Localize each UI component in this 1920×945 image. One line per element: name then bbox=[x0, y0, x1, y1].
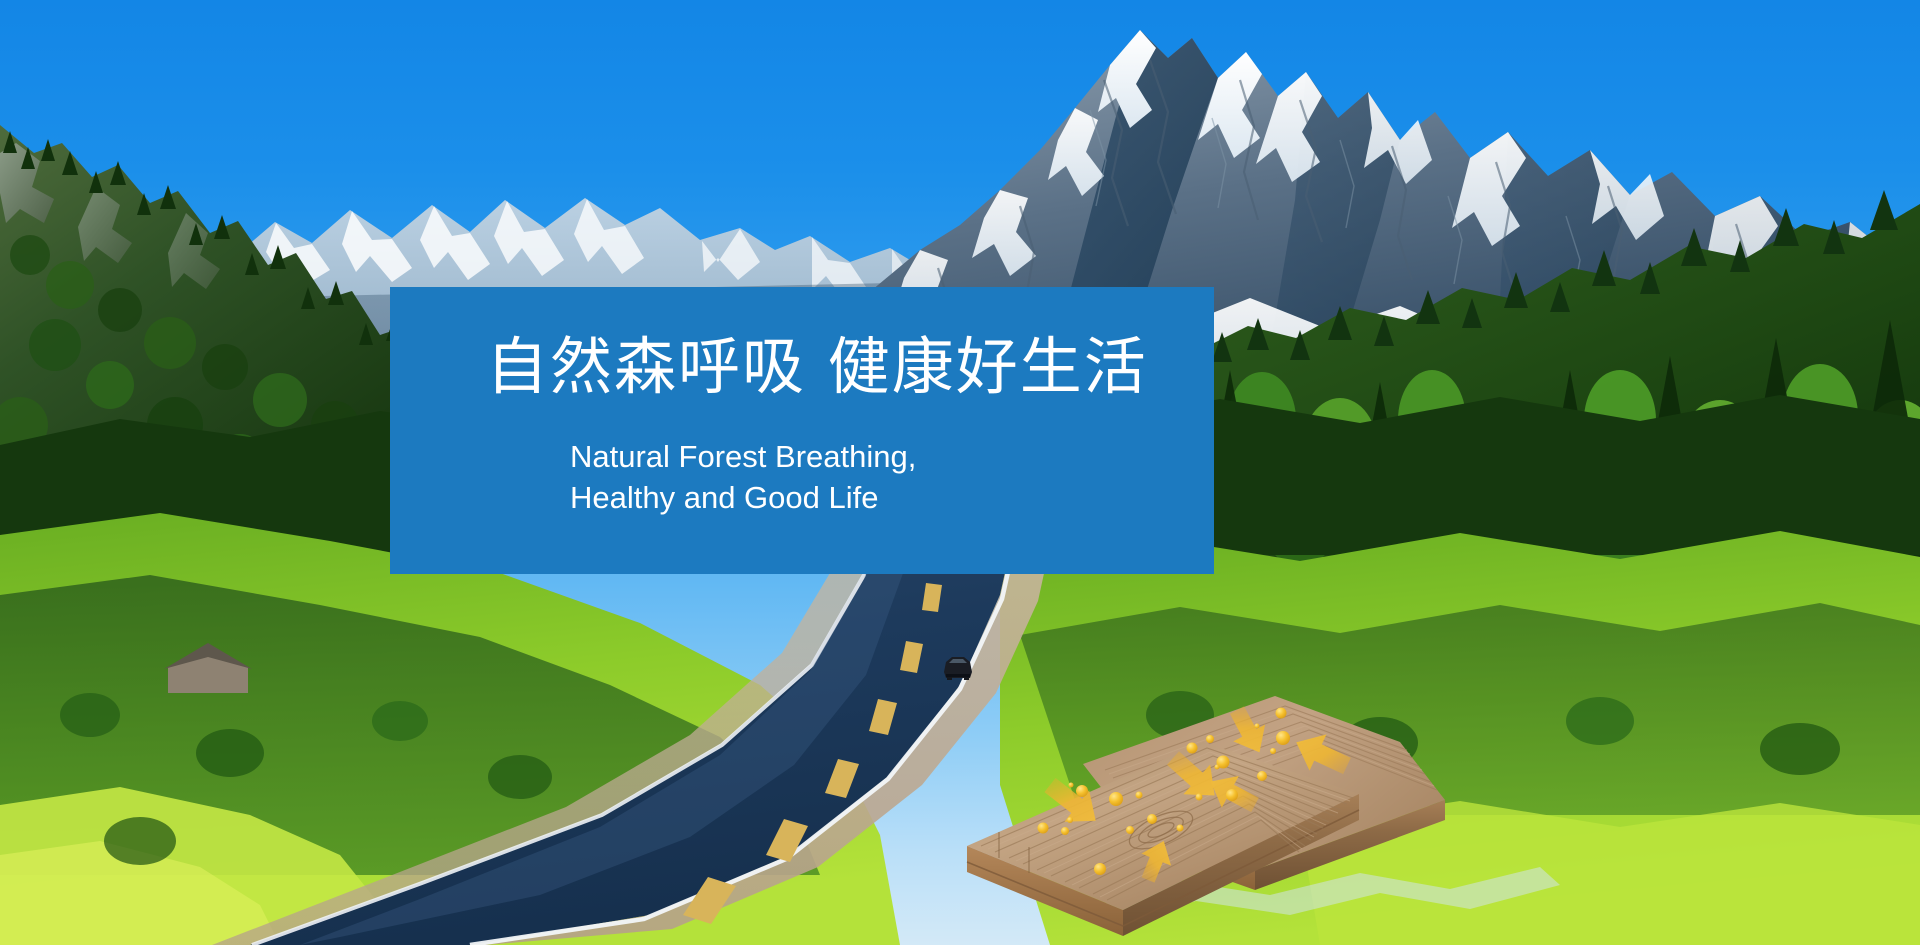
product-wood-flooring bbox=[955, 680, 1475, 945]
subtitle-line-1: Natural Forest Breathing, bbox=[570, 437, 1214, 478]
hero-banner: 自然森呼吸 健康好生活 Natural Forest Breathing, He… bbox=[0, 0, 1920, 945]
page-title: 自然森呼吸 健康好生活 bbox=[390, 333, 1214, 401]
headline-panel: 自然森呼吸 健康好生活 Natural Forest Breathing, He… bbox=[390, 287, 1214, 574]
subtitle-line-2: Healthy and Good Life bbox=[570, 478, 1214, 519]
car-on-road bbox=[938, 650, 978, 684]
subtitle-block: Natural Forest Breathing, Healthy and Go… bbox=[390, 437, 1214, 519]
